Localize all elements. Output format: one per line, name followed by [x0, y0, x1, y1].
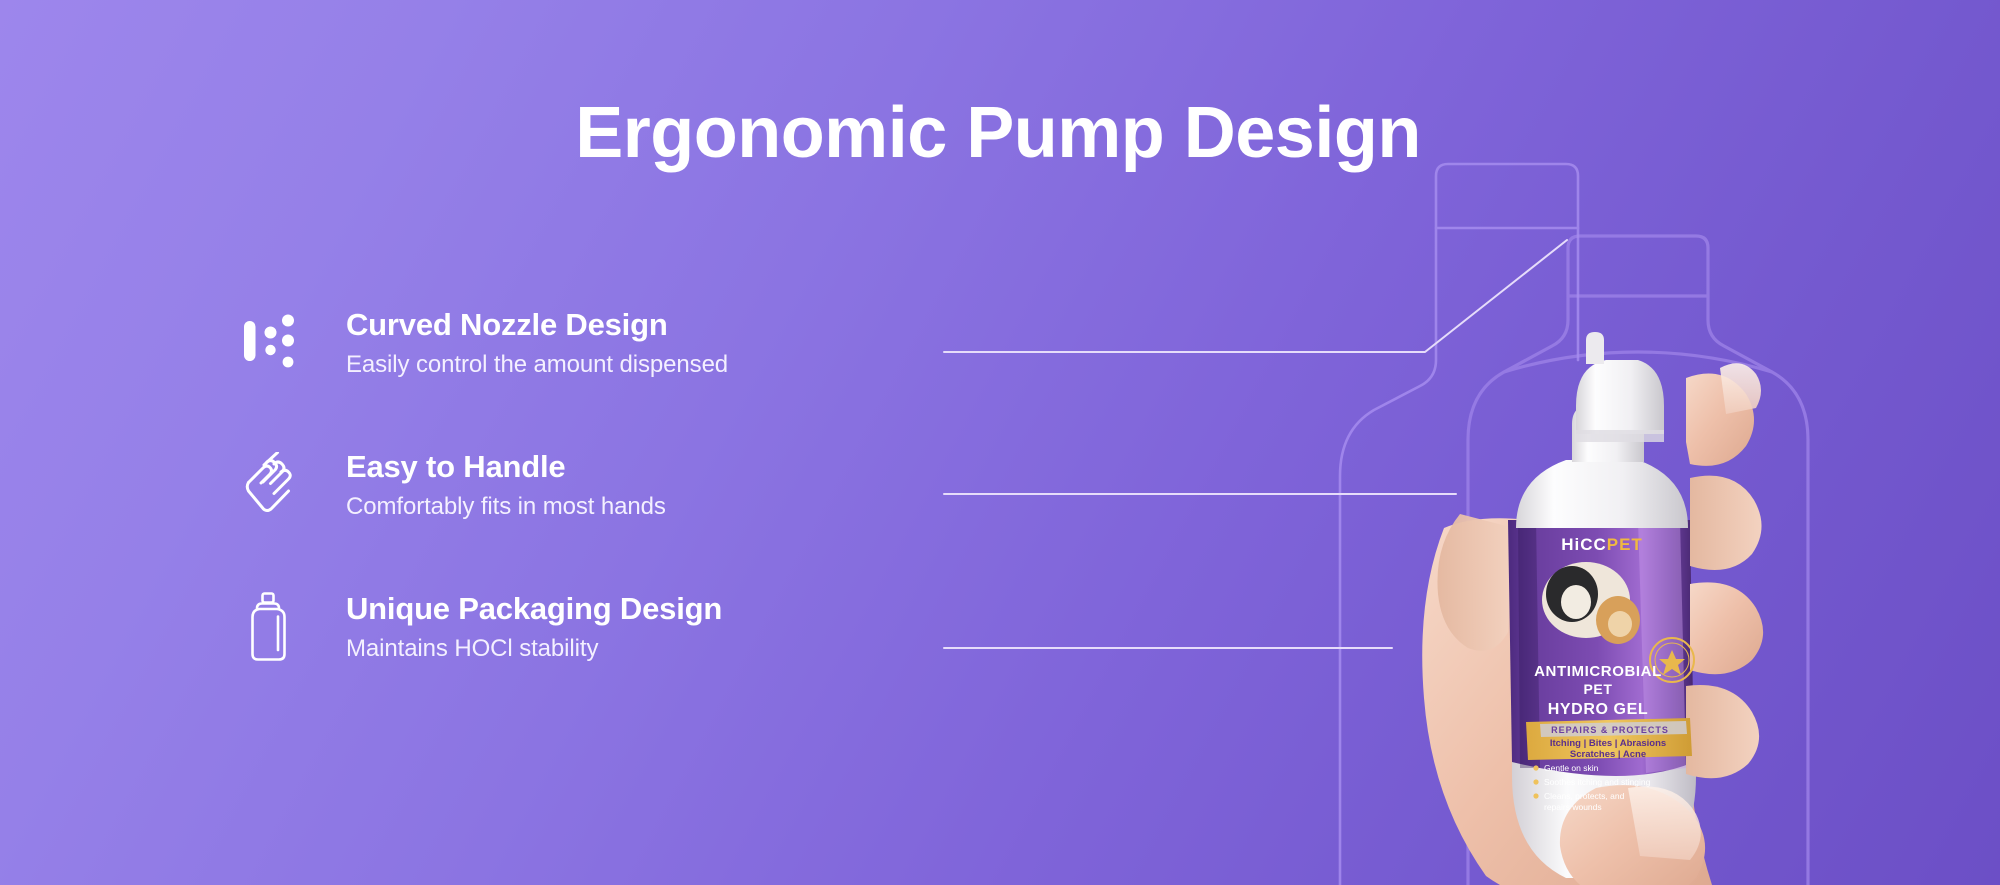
- uses-line-1: Itching | Bites | Abrasions: [1550, 738, 1666, 749]
- pump-bottle-icon: [244, 590, 306, 660]
- feature-item-easy-to-handle: Easy to Handle Comfortably fits in most …: [244, 448, 666, 522]
- feature-title: Easy to Handle: [346, 450, 666, 485]
- feature-text-easy-to-handle: Easy to Handle Comfortably fits in most …: [346, 448, 666, 522]
- page-title: Ergonomic Pump Design: [0, 96, 1998, 172]
- feature-subtitle: Maintains HOCl stability: [346, 634, 722, 664]
- product-name-3: HYDRO GEL: [1548, 701, 1649, 718]
- feature-text-curved-nozzle: Curved Nozzle Design Easily control the …: [346, 306, 728, 380]
- open-hand-icon: [244, 448, 306, 518]
- brand-text: HiCCPET: [1561, 535, 1643, 554]
- feature-item-unique-packaging: Unique Packaging Design Maintains HOCl s…: [244, 590, 722, 664]
- pump-head: [1576, 360, 1664, 434]
- bullet-1: Gentle on skin: [1544, 763, 1599, 773]
- uses-line-2: Scratches | Acne: [1570, 749, 1646, 760]
- label-text: HiCCPET: [1561, 535, 1643, 554]
- bottle-shoulder: [1516, 460, 1688, 528]
- product-name-1: ANTIMICROBIAL: [1534, 663, 1662, 680]
- repairs-protects-banner: REPAIRS & PROTECTS Itching | Bites | Abr…: [1526, 718, 1692, 760]
- bullet-4: repairs wounds: [1544, 802, 1602, 812]
- feature-subtitle: Easily control the amount dispensed: [346, 350, 728, 380]
- feature-text-unique-packaging: Unique Packaging Design Maintains HOCl s…: [346, 590, 722, 664]
- feature-subtitle: Comfortably fits in most hands: [346, 492, 666, 522]
- banner-text: REPAIRS & PROTECTS: [1551, 725, 1669, 735]
- bullet-3: Cleans, protects, and: [1544, 791, 1625, 801]
- product-name-2: PET: [1583, 681, 1612, 697]
- spray-nozzle-icon: [244, 306, 306, 376]
- product-image: HiCCPET ANTIMICROBIAL PET HYDRO GEL: [1390, 228, 2000, 885]
- feature-title: Unique Packaging Design: [346, 592, 722, 627]
- feature-item-curved-nozzle: Curved Nozzle Design Easily control the …: [244, 306, 728, 380]
- bullet-2: Soothes itching and stinging: [1544, 777, 1651, 787]
- hero-banner: Ergonomic Pump Design: [0, 0, 2000, 885]
- feature-title: Curved Nozzle Design: [346, 308, 728, 343]
